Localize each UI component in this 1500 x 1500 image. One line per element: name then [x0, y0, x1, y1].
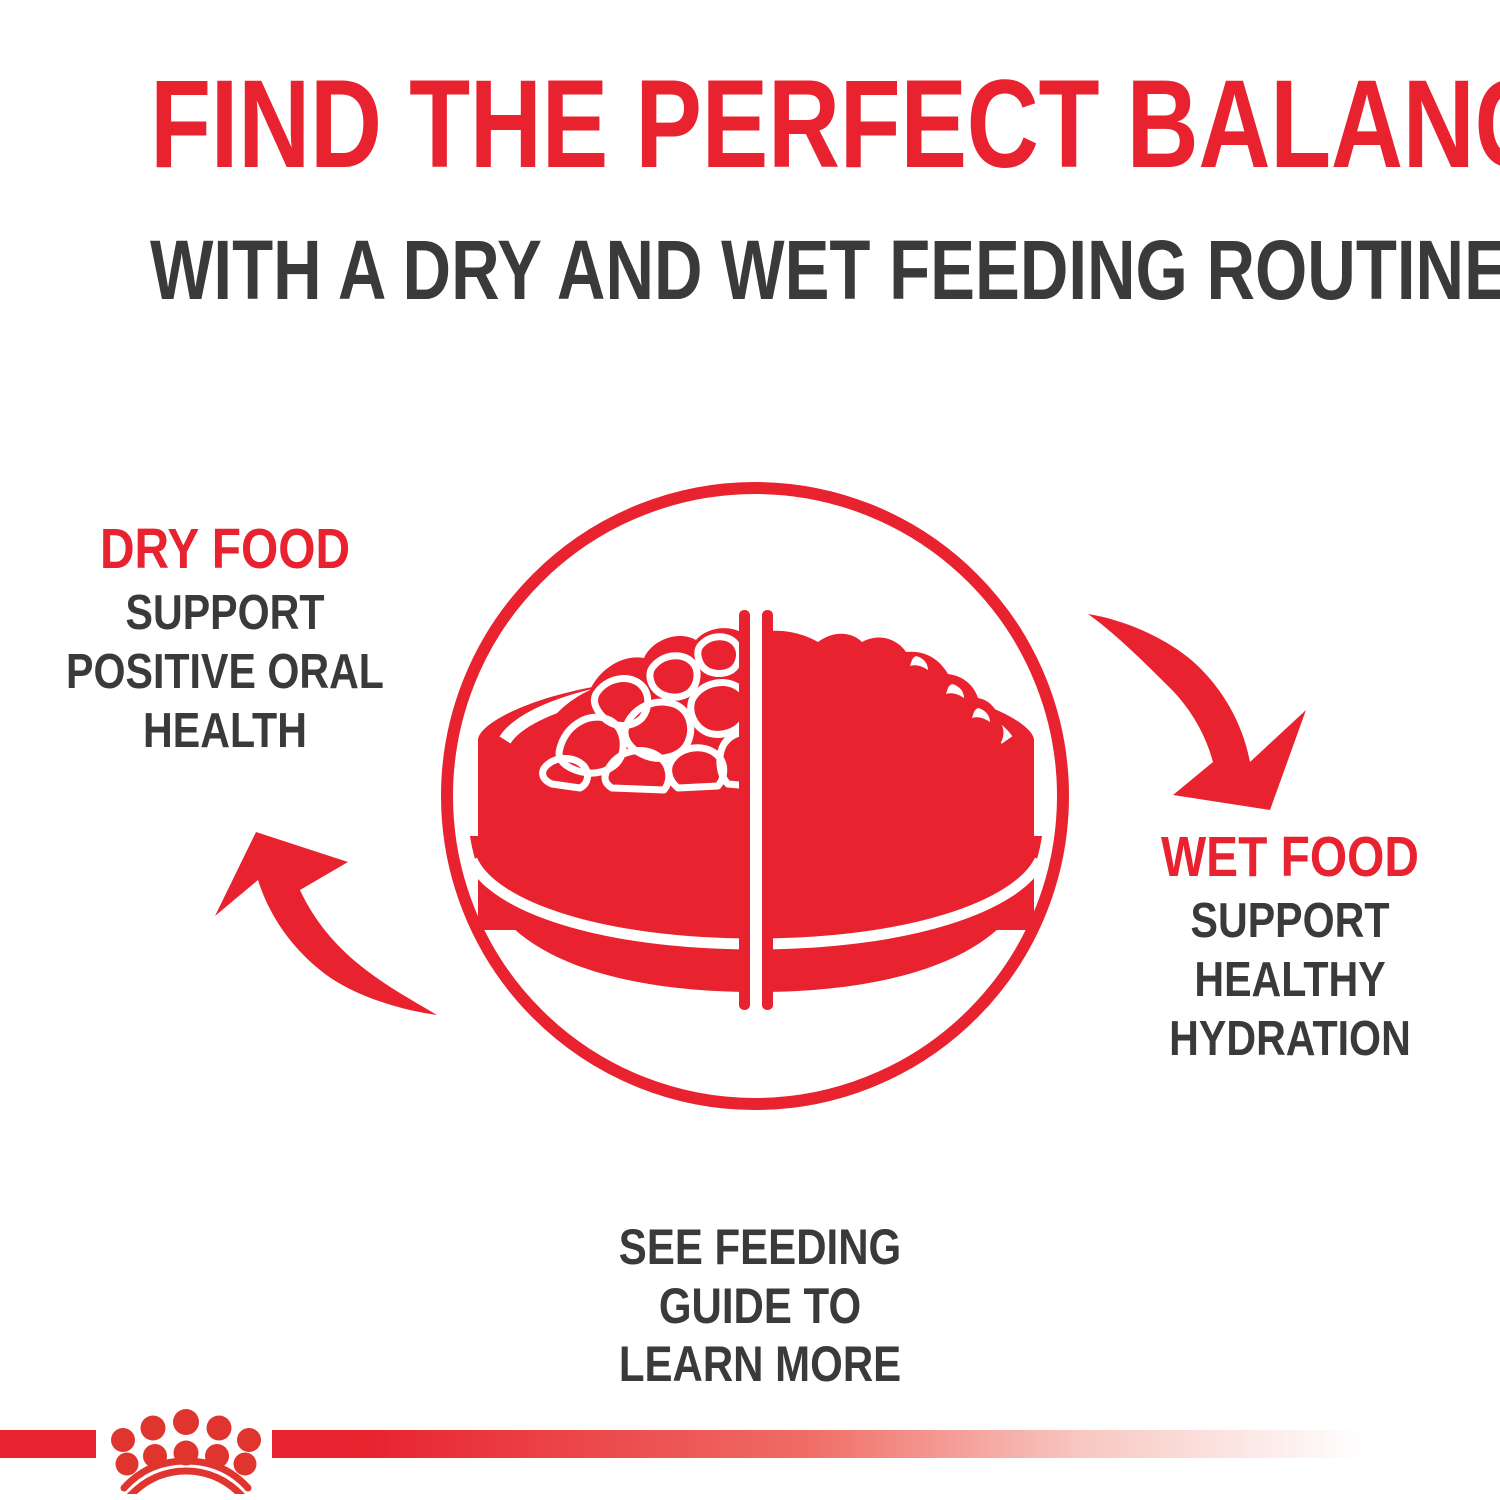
cta-line-2: GUIDE TO — [508, 1277, 1012, 1336]
wet-food-title: WET FOOD — [1122, 828, 1458, 886]
cta-line-3: LEARN MORE — [508, 1335, 1012, 1394]
dry-food-benefit-line-3: HEALTH — [61, 702, 389, 761]
royal-canin-crown-icon — [98, 1408, 274, 1494]
infographic-canvas: FIND THE PERFECT BALANCE WITH A DRY AND … — [0, 0, 1500, 1500]
footer-rule-left — [0, 1430, 96, 1458]
dry-food-title: DRY FOOD — [61, 520, 389, 578]
dry-kibble-group — [537, 628, 750, 790]
dry-food-label: DRY FOOD SUPPORT POSITIVE ORAL HEALTH — [30, 520, 420, 761]
wet-food-benefit: SUPPORT HEALTHY HYDRATION — [1122, 892, 1458, 1068]
footer-rule-right — [272, 1430, 1422, 1458]
arrow-down-right-icon — [1088, 614, 1306, 810]
wet-food-benefit-line-2: HYDRATION — [1122, 1010, 1458, 1069]
arrow-up-left-icon — [215, 832, 437, 1015]
dry-food-benefit-line-2: POSITIVE ORAL — [61, 643, 389, 702]
feeding-guide-cta: SEE FEEDING GUIDE TO LEARN MORE — [508, 1218, 1012, 1394]
footer — [0, 1408, 1500, 1500]
cta-line-1: SEE FEEDING — [508, 1218, 1012, 1277]
dry-food-benefit-line-1: SUPPORT — [61, 584, 389, 643]
bowl-divider-lines — [739, 610, 773, 1010]
dry-food-benefit: SUPPORT POSITIVE ORAL HEALTH — [61, 584, 389, 760]
pet-food-bowl-icon — [470, 610, 1042, 1010]
wet-food-benefit-line-1: SUPPORT HEALTHY — [1122, 892, 1458, 1010]
wet-food-label: WET FOOD SUPPORT HEALTHY HYDRATION — [1090, 828, 1490, 1069]
